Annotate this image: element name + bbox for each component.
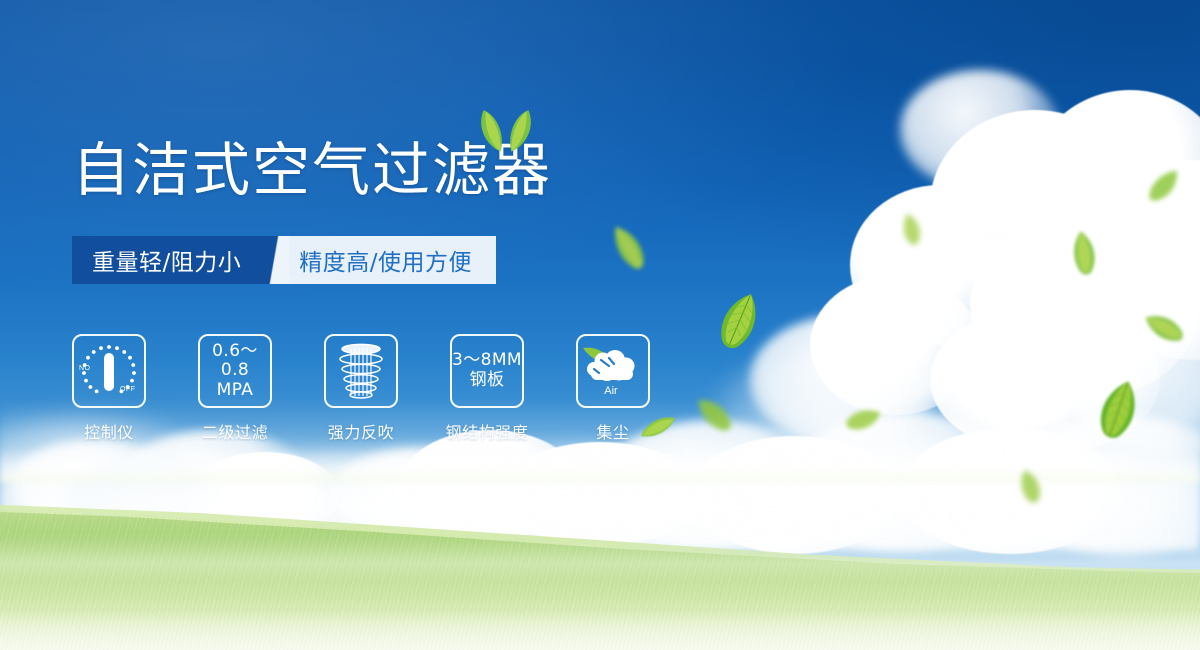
subtitle-bar: 重量轻/阻力小 精度高/使用方便 — [72, 236, 496, 284]
leaf-icon — [1065, 228, 1103, 280]
feature-box-control: NO OFF — [72, 334, 146, 408]
feature-list: NO OFF 控制仪 0.6～0.8 MPA 二级过滤 — [72, 334, 650, 443]
subtitle-right-text: 精度高/使用方便 — [289, 236, 496, 284]
subtitle-divider — [263, 236, 289, 284]
feature-label: 强力反吹 — [328, 419, 394, 443]
product-banner: 自洁式空气过滤器 重量轻/阻力小 精度高/使用方便 — [0, 0, 1200, 650]
feature-label: 钢结构强度 — [446, 419, 529, 443]
sprout-leaves-icon — [470, 106, 542, 159]
feature-box-blowback — [324, 334, 398, 408]
air-cloud-icon: Air — [581, 342, 645, 400]
filter-cartridge-icon — [333, 342, 389, 400]
feature-item-blowback[interactable]: 强力反吹 — [324, 334, 398, 443]
title-block: 自洁式空气过滤器 — [72, 140, 772, 201]
feature-box-pressure: 0.6～0.8 MPA — [198, 334, 272, 408]
subtitle-left-text: 重量轻/阻力小 — [72, 236, 263, 284]
feature-label: 二级过滤 — [202, 419, 268, 443]
dial-off-label: OFF — [120, 386, 136, 393]
control-dial-icon: NO OFF — [78, 340, 140, 402]
pressure-text-icon: 0.6～0.8 MPA — [200, 342, 270, 401]
feature-item-steel[interactable]: 3～8MM 钢板 钢结构强度 — [450, 334, 524, 443]
feature-item-pressure[interactable]: 0.6～0.8 MPA 二级过滤 — [198, 334, 272, 443]
dial-on-label: NO — [79, 365, 91, 372]
feature-box-steel: 3～8MM 钢板 — [450, 334, 524, 408]
feature-box-dust: Air — [576, 334, 650, 408]
steel-plate-text-icon: 3～8MM 钢板 — [452, 351, 522, 390]
feature-label: 集尘 — [596, 419, 629, 443]
air-caption: Air — [604, 385, 618, 397]
feature-item-control[interactable]: NO OFF 控制仪 — [72, 334, 146, 443]
page-title: 自洁式空气过滤器 — [72, 140, 772, 201]
feature-label: 控制仪 — [84, 419, 134, 443]
